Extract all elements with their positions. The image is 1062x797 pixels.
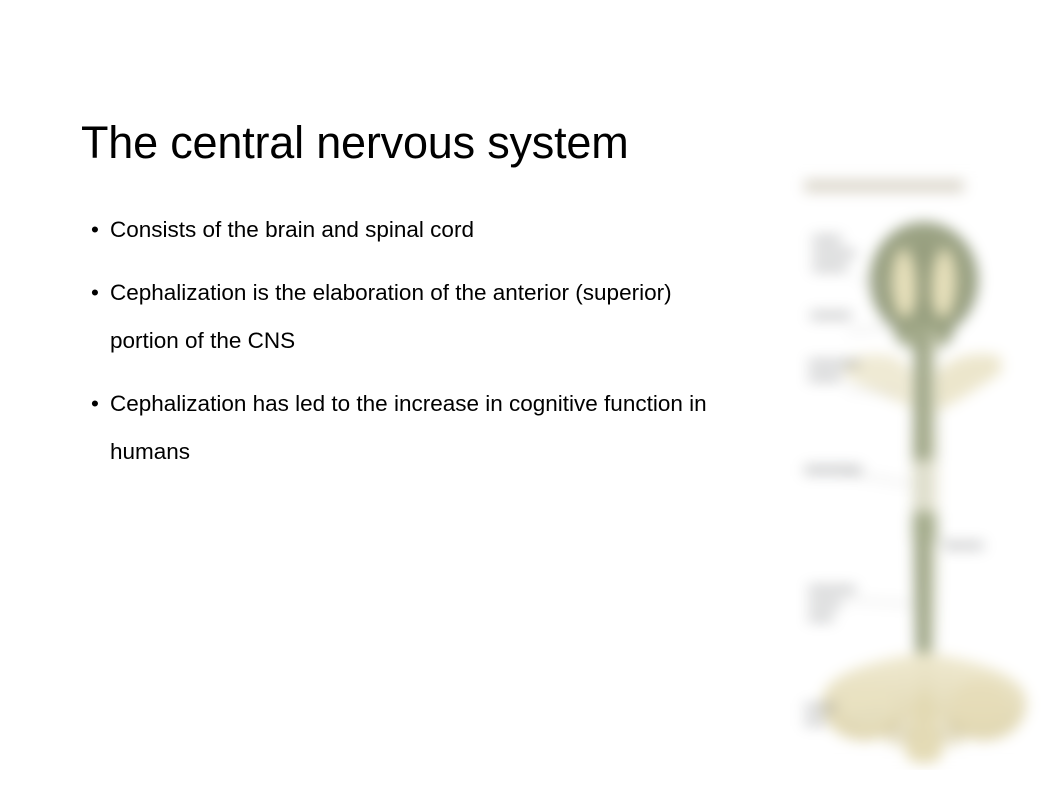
slide-title: The central nervous system (81, 119, 741, 166)
figure-label (944, 542, 984, 549)
cns-anatomy-figure-image (786, 160, 1062, 770)
presentation-slide: The central nervous system • Consists of… (0, 0, 1062, 797)
bullet-item: • Cephalization has led to the increase … (88, 380, 728, 476)
figure-label (808, 586, 856, 593)
figure-label (804, 466, 862, 474)
slide-body-bullet-list: • Consists of the brain and spinal cord … (88, 206, 728, 476)
bullet-item: • Cephalization is the elaboration of th… (88, 269, 728, 365)
bullet-dot-icon: • (91, 380, 99, 428)
cns-anatomy-figure (786, 160, 1062, 770)
figure-label (812, 250, 856, 257)
bullet-dot-icon: • (91, 206, 99, 254)
figure-label (808, 600, 842, 607)
figure-label (812, 264, 848, 271)
figure-label (808, 374, 842, 381)
figure-label (804, 718, 826, 725)
figure-label (808, 614, 834, 621)
figure-header-label (804, 180, 964, 192)
bullet-text: Cephalization has led to the increase in… (110, 380, 728, 476)
figure-label (808, 360, 860, 367)
figure-label (804, 704, 836, 711)
bullet-item: • Consists of the brain and spinal cord (88, 206, 728, 254)
figure-label (812, 236, 842, 243)
figure-label (810, 312, 852, 319)
bullet-dot-icon: • (91, 269, 99, 317)
bullet-text: Cephalization is the elaboration of the … (110, 269, 728, 365)
bullet-text: Consists of the brain and spinal cord (110, 206, 728, 254)
